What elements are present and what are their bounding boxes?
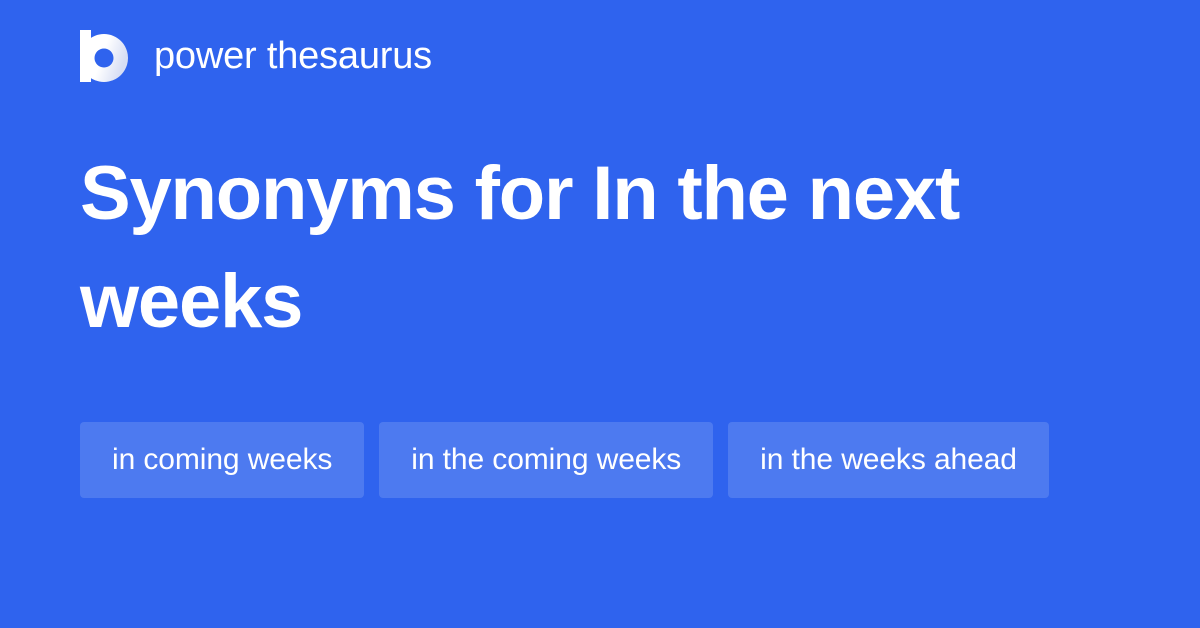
brand-name: power thesaurus bbox=[154, 37, 432, 75]
synonym-chip[interactable]: in the weeks ahead bbox=[728, 422, 1049, 498]
open-graph-card: power thesaurus Synonyms for In the next… bbox=[0, 0, 1200, 628]
synonym-chip[interactable]: in coming weeks bbox=[80, 422, 364, 498]
synonym-chip-list: in coming weeks in the coming weeks in t… bbox=[80, 422, 1120, 498]
brand-header[interactable]: power thesaurus bbox=[80, 28, 432, 84]
power-thesaurus-b-logo-icon bbox=[80, 30, 128, 82]
synonym-chip[interactable]: in the coming weeks bbox=[379, 422, 713, 498]
page-title: Synonyms for In the next weeks bbox=[80, 140, 1070, 356]
